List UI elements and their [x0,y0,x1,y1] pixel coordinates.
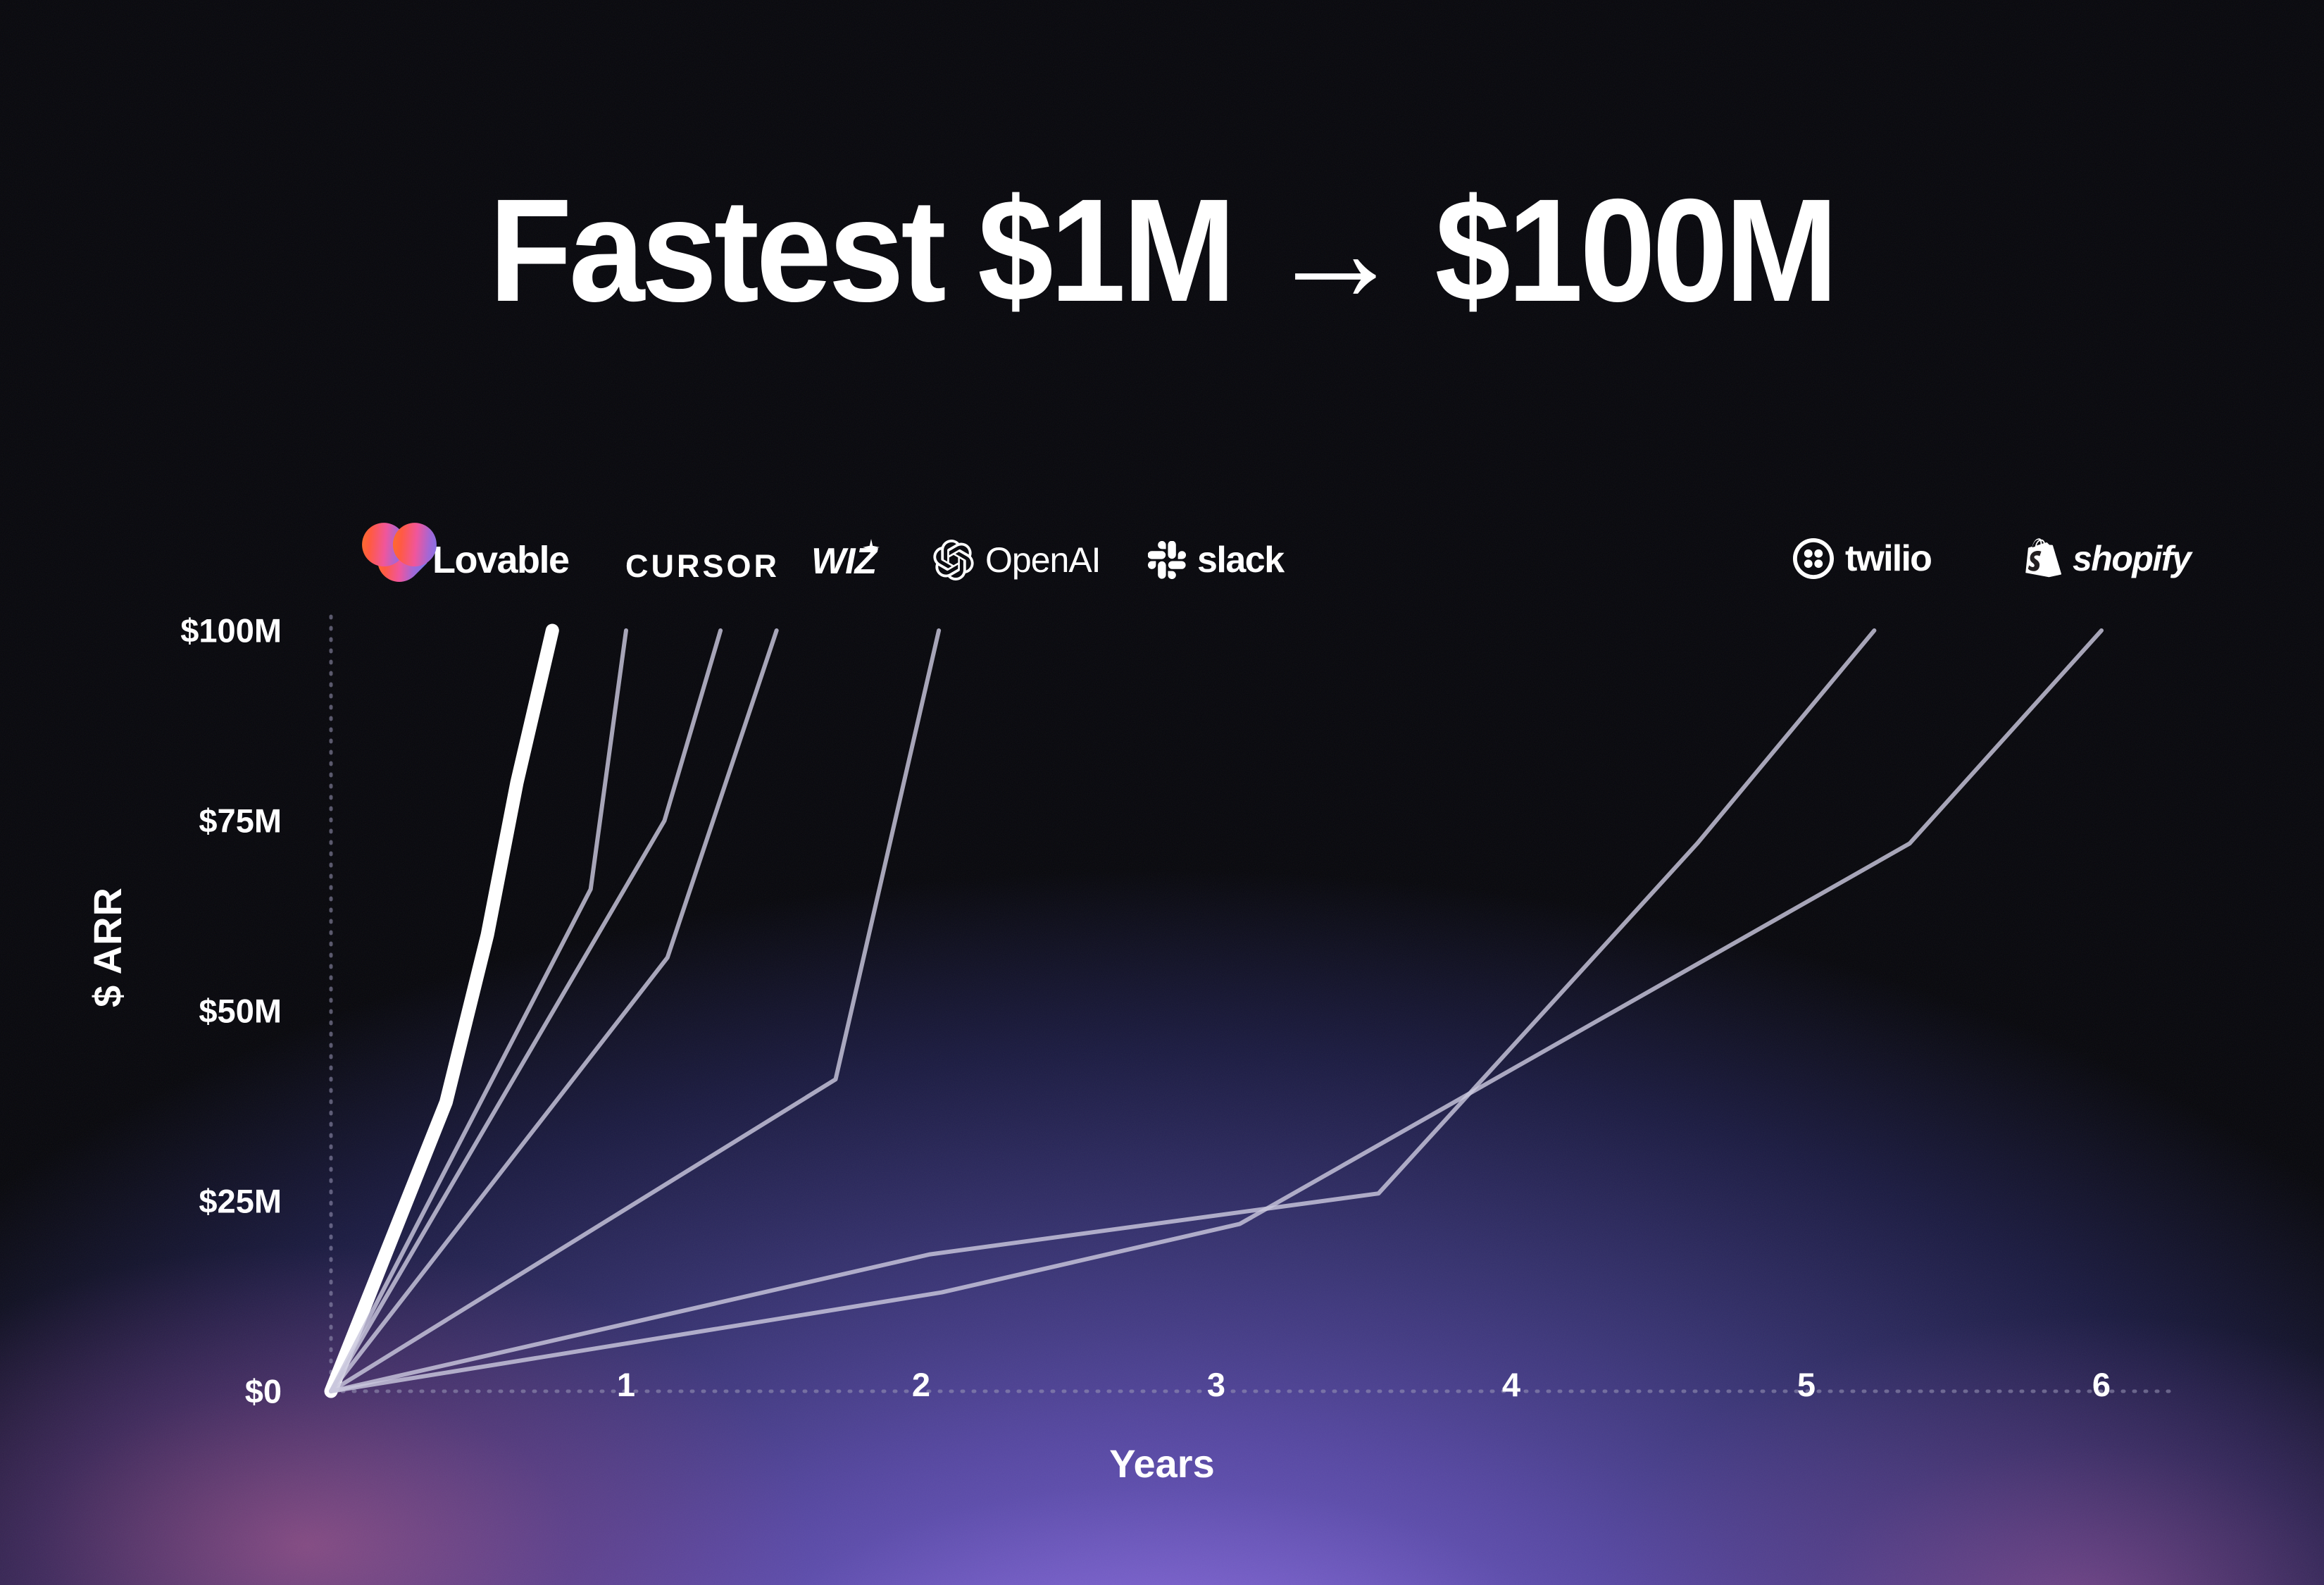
x-axis-tick-0: 1 [617,1365,635,1404]
y-axis-tick-1: $25M [0,1182,282,1221]
chart-canvas: Fastest $1M → $100M Lovable CURSOR WIZ O… [0,0,2324,1585]
x-axis-tick-5: 6 [2092,1365,2111,1404]
x-axis-tick-4: 5 [1797,1365,1816,1404]
plot-svg [0,0,2324,1585]
series-line-shopify [331,630,2101,1391]
y-axis-tick-2: $50M [0,992,282,1031]
x-axis-tick-3: 4 [1502,1365,1520,1404]
y-axis-tick-0: $0 [0,1372,282,1411]
y-axis-label: $ ARR [85,887,130,1007]
y-axis-tick-4: $100M [0,611,282,650]
plot-area: $0$25M$50M$75M$100M123456 $ ARR Years [0,0,2324,1585]
x-axis-tick-2: 3 [1207,1365,1225,1404]
x-axis-tick-1: 2 [912,1365,930,1404]
y-axis-tick-3: $75M [0,802,282,840]
x-axis-label: Years [0,1441,2324,1486]
series-line-twilio [331,630,1874,1391]
